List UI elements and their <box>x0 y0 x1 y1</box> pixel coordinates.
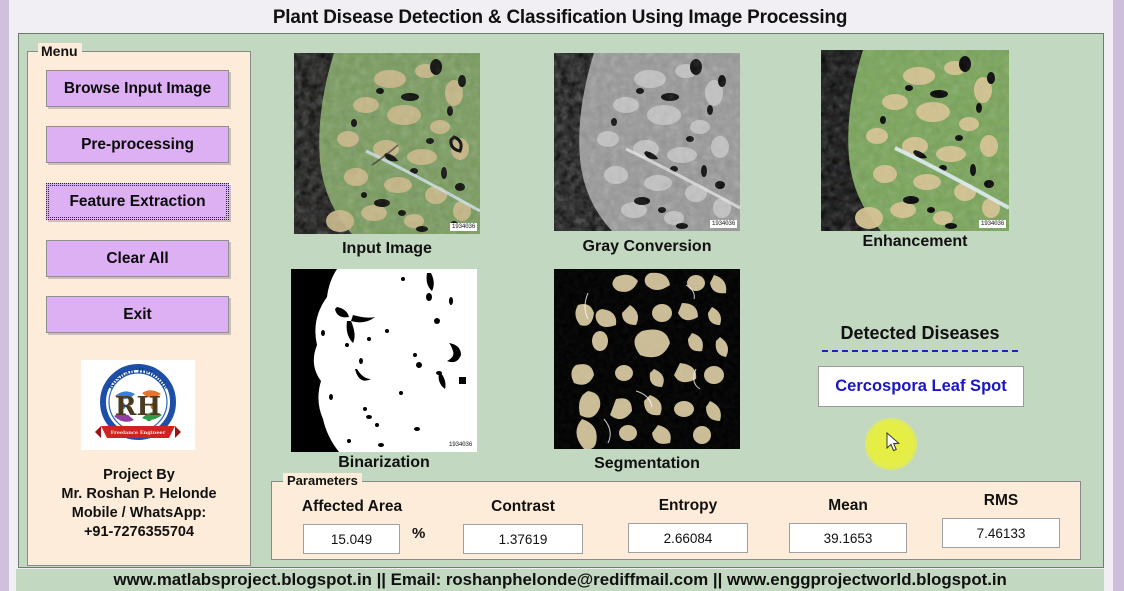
window-right-inner <box>1104 0 1113 591</box>
param-rms-value[interactable]: 7.46133 <box>942 518 1060 548</box>
enhancement-label: Enhancement <box>821 233 1009 251</box>
segmentation-label: Segmentation <box>554 455 740 473</box>
binarization-label: Binarization <box>291 454 477 472</box>
enhancement-thumbnail: 1934036 <box>821 50 1009 231</box>
detected-disease-box[interactable]: Cercospora Leaf Spot <box>818 366 1024 407</box>
credit-line-3: Mobile / WhatsApp: <box>27 504 251 523</box>
roshan-helonde-logo: Roshan Helonde RH Freelance Engineer <box>81 360 195 450</box>
menu-group-legend: Menu <box>38 43 82 59</box>
svg-text:RH: RH <box>115 392 161 422</box>
clear-all-button[interactable]: Clear All <box>46 240 229 277</box>
window-right-border <box>1113 0 1124 591</box>
exit-button[interactable]: Exit <box>46 296 229 333</box>
detected-diseases-divider <box>822 350 1018 352</box>
window-left-border <box>0 0 9 591</box>
param-affected-area-value[interactable]: 15.049 <box>303 524 400 554</box>
binarization-thumbnail: 1934036 <box>291 269 477 452</box>
param-affected-area-label: Affected Area <box>296 498 408 516</box>
svg-text:Freelance Engineer: Freelance Engineer <box>111 430 166 436</box>
param-contrast-value[interactable]: 1.37619 <box>463 524 583 554</box>
project-credit: Project By Mr. Roshan P. Helonde Mobile … <box>27 466 251 542</box>
feature-extraction-button[interactable]: Feature Extraction <box>46 183 229 220</box>
image-watermark: 1934036 <box>450 223 477 231</box>
param-mean-value[interactable]: 39.1653 <box>789 523 907 553</box>
footer-bar: www.matlabsproject.blogspot.in || Email:… <box>16 569 1104 591</box>
parameters-group-legend: Parameters <box>283 473 362 488</box>
input-image-label: Input Image <box>294 240 480 258</box>
image-watermark: 1934036 <box>710 220 737 228</box>
gray-conversion-label: Gray Conversion <box>554 238 740 256</box>
pre-processing-button[interactable]: Pre-processing <box>46 126 229 163</box>
param-entropy-label: Entropy <box>628 497 748 515</box>
credit-line-2: Mr. Roshan P. Helonde <box>27 485 251 504</box>
browse-input-image-button[interactable]: Browse Input Image <box>46 70 229 107</box>
param-rms-label: RMS <box>942 492 1060 510</box>
gray-conversion-thumbnail: 1934036 <box>554 53 740 231</box>
credit-line-1: Project By <box>27 466 251 485</box>
credit-line-4: +91-7276355704 <box>27 523 251 542</box>
image-watermark: 1934036 <box>979 220 1006 228</box>
percent-sign: % <box>412 525 425 542</box>
input-image-thumbnail: 1934036 <box>294 53 480 234</box>
window-left-inner <box>9 0 16 591</box>
param-contrast-label: Contrast <box>463 498 583 516</box>
param-mean-label: Mean <box>789 497 907 515</box>
title-bar: Plant Disease Detection & Classification… <box>16 0 1104 34</box>
page-title: Plant Disease Detection & Classification… <box>273 6 847 29</box>
detected-diseases-title: Detected Diseases <box>810 323 1030 344</box>
footer-text: www.matlabsproject.blogspot.in || Email:… <box>113 570 1006 590</box>
image-watermark: 1934036 <box>447 441 474 449</box>
param-entropy-value[interactable]: 2.66084 <box>628 523 748 553</box>
segmentation-thumbnail <box>554 269 740 449</box>
detected-disease-name: Cercospora Leaf Spot <box>835 377 1006 396</box>
